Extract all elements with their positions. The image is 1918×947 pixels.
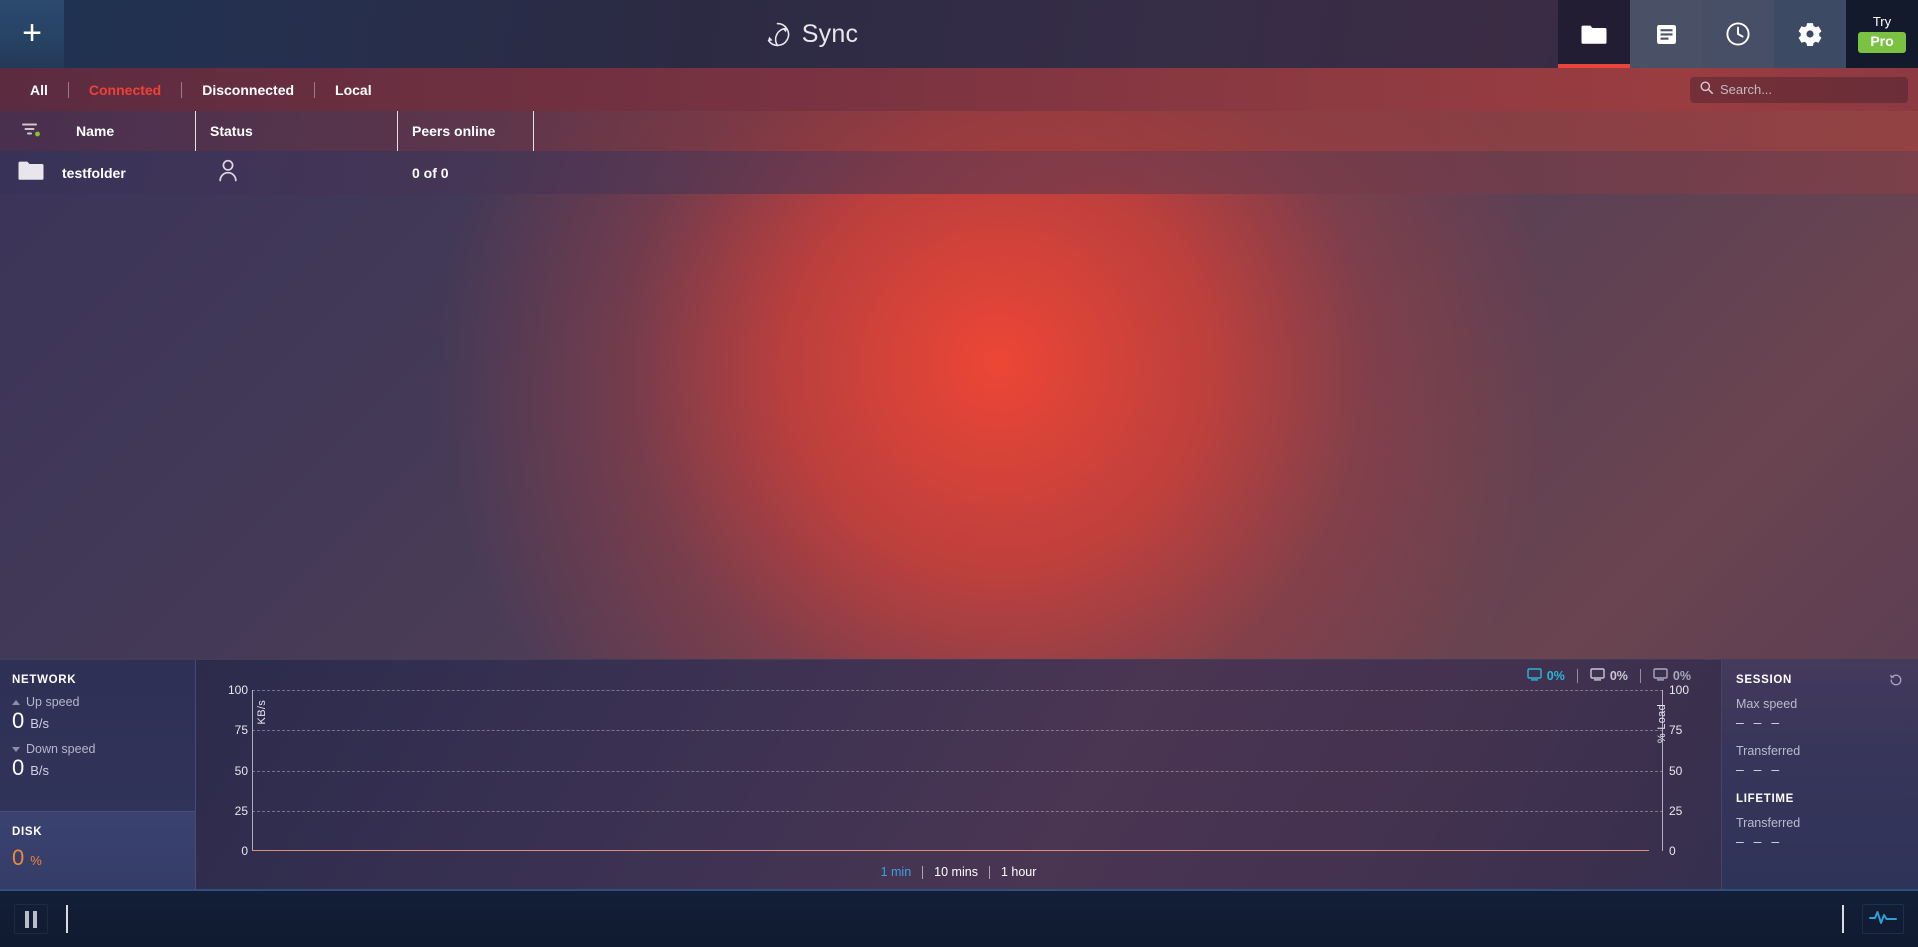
nav-tab-history[interactable] (1702, 0, 1774, 68)
document-list-icon (1655, 23, 1678, 46)
load-value-1: 0% (1547, 669, 1565, 683)
app-brand: Sync (64, 0, 1558, 68)
time-range-10mins[interactable]: 10 mins (923, 865, 989, 879)
status-bar-divider (66, 905, 68, 933)
clock-icon (1725, 21, 1751, 47)
triangle-up-icon (12, 700, 20, 705)
row-folder-name: testfolder (62, 165, 196, 181)
table-row[interactable]: testfolder 0 of 0 (0, 151, 1918, 194)
dashboard: NETWORK Up speed 0 B/s Down speed 0 B/s (0, 659, 1918, 889)
filter-tab-all[interactable]: All (10, 82, 68, 98)
y2-tick: 25 (1669, 804, 1682, 818)
status-bar-divider (1842, 905, 1844, 933)
network-stats: NETWORK Up speed 0 B/s Down speed 0 B/s (0, 660, 195, 811)
disk-value-row: 0 % (12, 847, 195, 869)
column-header-status[interactable]: Status (196, 111, 398, 151)
top-nav (1558, 0, 1846, 68)
lifetime-transferred-label: Transferred (1736, 816, 1918, 830)
table-body: testfolder 0 of 0 (0, 151, 1918, 194)
column-header-peers[interactable]: Peers online (398, 111, 534, 151)
filter-divider (181, 82, 182, 98)
filter-tabs: All Connected Disconnected Local (0, 82, 392, 98)
down-speed-label-row: Down speed (12, 742, 195, 756)
up-speed-label: Up speed (26, 695, 80, 709)
search-box[interactable] (1690, 77, 1908, 103)
time-range-divider (989, 866, 990, 879)
monitor-icon (1590, 668, 1605, 684)
time-range-1min[interactable]: 1 min (870, 865, 923, 879)
nav-tab-devices[interactable] (1630, 0, 1702, 68)
sync-circular-arrow-icon (764, 21, 791, 48)
chart-grid (252, 690, 1663, 851)
y-tick: 25 (235, 804, 248, 818)
disk-stats: DISK 0 % (0, 811, 195, 889)
try-pro-button[interactable]: Try Pro (1846, 0, 1918, 68)
gridline (252, 690, 1663, 691)
y2-tick: 75 (1669, 723, 1682, 737)
row-peers-online: 0 of 0 (398, 165, 534, 181)
triangle-down-icon (12, 747, 20, 752)
sync-app-window: + Sync (0, 0, 1918, 947)
pro-badge: Pro (1858, 32, 1905, 52)
pause-button[interactable] (14, 904, 48, 934)
plus-icon: + (22, 16, 42, 50)
pause-icon (25, 911, 37, 928)
disk-unit: % (30, 853, 42, 868)
filter-tab-disconnected[interactable]: Disconnected (182, 82, 314, 98)
search-container (1690, 77, 1908, 103)
filter-tab-local[interactable]: Local (315, 82, 392, 98)
load-indicator-2[interactable]: 0% (1578, 668, 1640, 684)
lifetime-transferred-value: – – – (1736, 833, 1918, 849)
monitor-icon (1653, 668, 1668, 684)
filter-divider (314, 82, 315, 98)
up-speed-value-row: 0 B/s (12, 710, 195, 732)
up-speed-label-row: Up speed (12, 695, 195, 709)
column-header-name[interactable]: Name (62, 111, 196, 151)
y2-tick: 100 (1669, 683, 1689, 697)
chart-series-baseline (252, 850, 1649, 851)
session-transferred-label: Transferred (1736, 744, 1918, 758)
session-transferred-value: – – – (1736, 761, 1918, 777)
filter-bar: All Connected Disconnected Local (0, 68, 1918, 111)
session-max-speed-value: – – – (1736, 714, 1918, 730)
down-speed-value-row: 0 B/s (12, 757, 195, 779)
activity-graph-button[interactable] (1862, 904, 1904, 934)
stats-panel: NETWORK Up speed 0 B/s Down speed 0 B/s (0, 660, 196, 889)
load-indicators: 0% 0% (1515, 668, 1703, 684)
y2-tick: 0 (1669, 844, 1676, 858)
nav-tab-settings[interactable] (1774, 0, 1846, 68)
status-bar (0, 889, 1918, 947)
load-divider (1577, 669, 1578, 683)
y2-tick: 50 (1669, 764, 1682, 778)
y-tick: 50 (235, 764, 248, 778)
gridline (252, 730, 1663, 731)
y-tick: 75 (235, 723, 248, 737)
nav-tab-folders[interactable] (1558, 0, 1630, 68)
session-max-speed-label: Max speed (1736, 697, 1918, 711)
chart-y-axis-left: 100 75 50 25 0 (204, 690, 248, 851)
down-speed-unit: B/s (30, 763, 49, 778)
row-status-cell (196, 159, 398, 187)
session-panel: SESSION Max speed – – – Transferred – – … (1722, 660, 1918, 889)
up-speed-unit: B/s (30, 716, 49, 731)
chart-plot-area: 100 75 50 25 0 100 75 50 25 0 KB/s % Loa… (196, 690, 1721, 851)
load-value-2: 0% (1610, 669, 1628, 683)
status-bar-right (1842, 904, 1904, 934)
top-bar: + Sync (0, 0, 1918, 68)
filter-divider (68, 82, 69, 98)
gridline (252, 771, 1663, 772)
folder-list-area: Name Status Peers online testfolder (0, 111, 1918, 659)
table-header: Name Status Peers online (0, 111, 1918, 151)
column-header-filter[interactable] (0, 111, 62, 151)
y-tick: 0 (241, 844, 248, 858)
down-speed-value: 0 (12, 757, 24, 779)
chart-time-range: 1 min 10 mins 1 hour (196, 865, 1721, 879)
gridline (252, 811, 1663, 812)
load-indicator-3[interactable]: 0% (1641, 668, 1703, 684)
try-pro-label: Try (1873, 15, 1891, 28)
filter-icon (21, 122, 41, 140)
column-header-spacer (534, 111, 1918, 151)
up-speed-value: 0 (12, 710, 24, 732)
network-title: NETWORK (12, 674, 195, 686)
person-icon (218, 159, 238, 187)
folder-icon (18, 160, 44, 186)
activity-graph-icon (1869, 909, 1897, 930)
gear-icon (1797, 21, 1823, 47)
app-title: Sync (802, 20, 858, 49)
disk-value: 0 (12, 847, 24, 869)
add-folder-button[interactable]: + (0, 0, 64, 68)
chart-y-axis-right: 100 75 50 25 0 (1669, 690, 1713, 851)
row-folder-icon-cell (0, 160, 62, 186)
filter-tab-connected[interactable]: Connected (69, 82, 181, 98)
time-range-divider (922, 866, 923, 879)
reset-arrow-icon[interactable] (1888, 672, 1904, 693)
time-range-1hour[interactable]: 1 hour (990, 865, 1047, 879)
monitor-icon (1527, 668, 1542, 684)
lifetime-title: LIFETIME (1736, 793, 1918, 805)
search-icon (1700, 81, 1713, 99)
y-tick: 100 (228, 683, 248, 697)
folder-icon (1581, 24, 1607, 45)
disk-title: DISK (12, 826, 195, 838)
load-value-3: 0% (1673, 669, 1691, 683)
load-divider (1640, 669, 1641, 683)
transfer-chart-panel: 0% 0% (196, 660, 1722, 889)
down-speed-label: Down speed (26, 742, 96, 756)
search-input[interactable] (1720, 82, 1898, 97)
load-indicator-1[interactable]: 0% (1515, 668, 1577, 684)
